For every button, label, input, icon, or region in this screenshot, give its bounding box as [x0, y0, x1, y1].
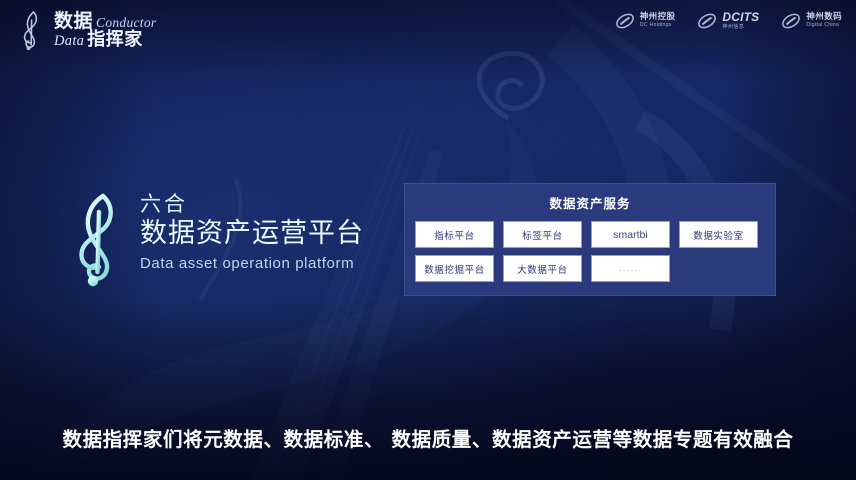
logo-cn-label: 神州信息: [722, 25, 759, 31]
brand-en-primary: Conductor: [96, 16, 156, 30]
logo-digital-china: 神州数码 Digital China: [781, 11, 842, 31]
slide-canvas: 数据 Conductor Data 指挥家 神州控股 DC Holdings: [0, 0, 856, 480]
panel-title: 数据资产服务: [405, 193, 775, 212]
service-card-biaoqian-pingtai[interactable]: 标签平台: [503, 221, 582, 248]
slide-caption: 数据指挥家们将元数据、数据标准、 数据质量、数据资产运营等数据专题有效融合: [0, 423, 856, 452]
treble-clef-icon: [72, 188, 128, 288]
service-card-more[interactable]: ......: [591, 255, 670, 282]
service-card-shuju-shiyanshi[interactable]: 数据实验室: [679, 221, 758, 248]
product-name-en: Data asset operation platform: [140, 255, 364, 272]
service-card-grid: 指标平台 标签平台 smartbi 数据实验室 数据挖掘平台 大数据平台 ...…: [415, 221, 765, 282]
logo-en-label: DC Holdings: [640, 23, 676, 29]
data-asset-services-panel: 数据资产服务 指标平台 标签平台 smartbi 数据实验室 数据挖掘平台 大数…: [404, 183, 776, 296]
service-card-row: 数据挖掘平台 大数据平台 ......: [415, 255, 765, 282]
logo-en-label: Digital China: [806, 23, 842, 29]
logo-dc-holdings: 神州控股 DC Holdings: [615, 11, 676, 31]
product-name-cn: 数据资产运营平台: [140, 217, 364, 251]
swirl-logo-icon: [697, 11, 717, 31]
logo-dcits: DCITS 神州信息: [697, 11, 759, 31]
brand-cn-primary: 数据: [54, 12, 93, 31]
service-card-row: 指标平台 标签平台 smartbi 数据实验室: [415, 221, 765, 248]
service-card-dashuju-pingtai[interactable]: 大数据平台: [503, 255, 582, 282]
product-title-block: 六合 数据资产运营平台 Data asset operation platfor…: [72, 186, 364, 288]
service-card-zhibiao-pingtai[interactable]: 指标平台: [415, 221, 494, 248]
swirl-logo-icon: [615, 11, 635, 31]
brand-logo: 数据 Conductor Data 指挥家: [18, 8, 156, 52]
service-card-smartbi[interactable]: smartbi: [591, 221, 670, 248]
brand-cn-secondary: 指挥家: [87, 31, 143, 49]
service-card-shuju-wajue-pingtai[interactable]: 数据挖掘平台: [415, 255, 494, 282]
treble-clef-icon: [18, 8, 48, 52]
product-subtitle-cn: 六合: [140, 192, 364, 216]
corporate-logo-group: 神州控股 DC Holdings DCITS 神州信息 神州数码 Digital…: [615, 11, 842, 31]
logo-latin-label: DCITS: [722, 11, 759, 25]
swirl-logo-icon: [781, 11, 801, 31]
brand-en-secondary: Data: [54, 34, 84, 49]
